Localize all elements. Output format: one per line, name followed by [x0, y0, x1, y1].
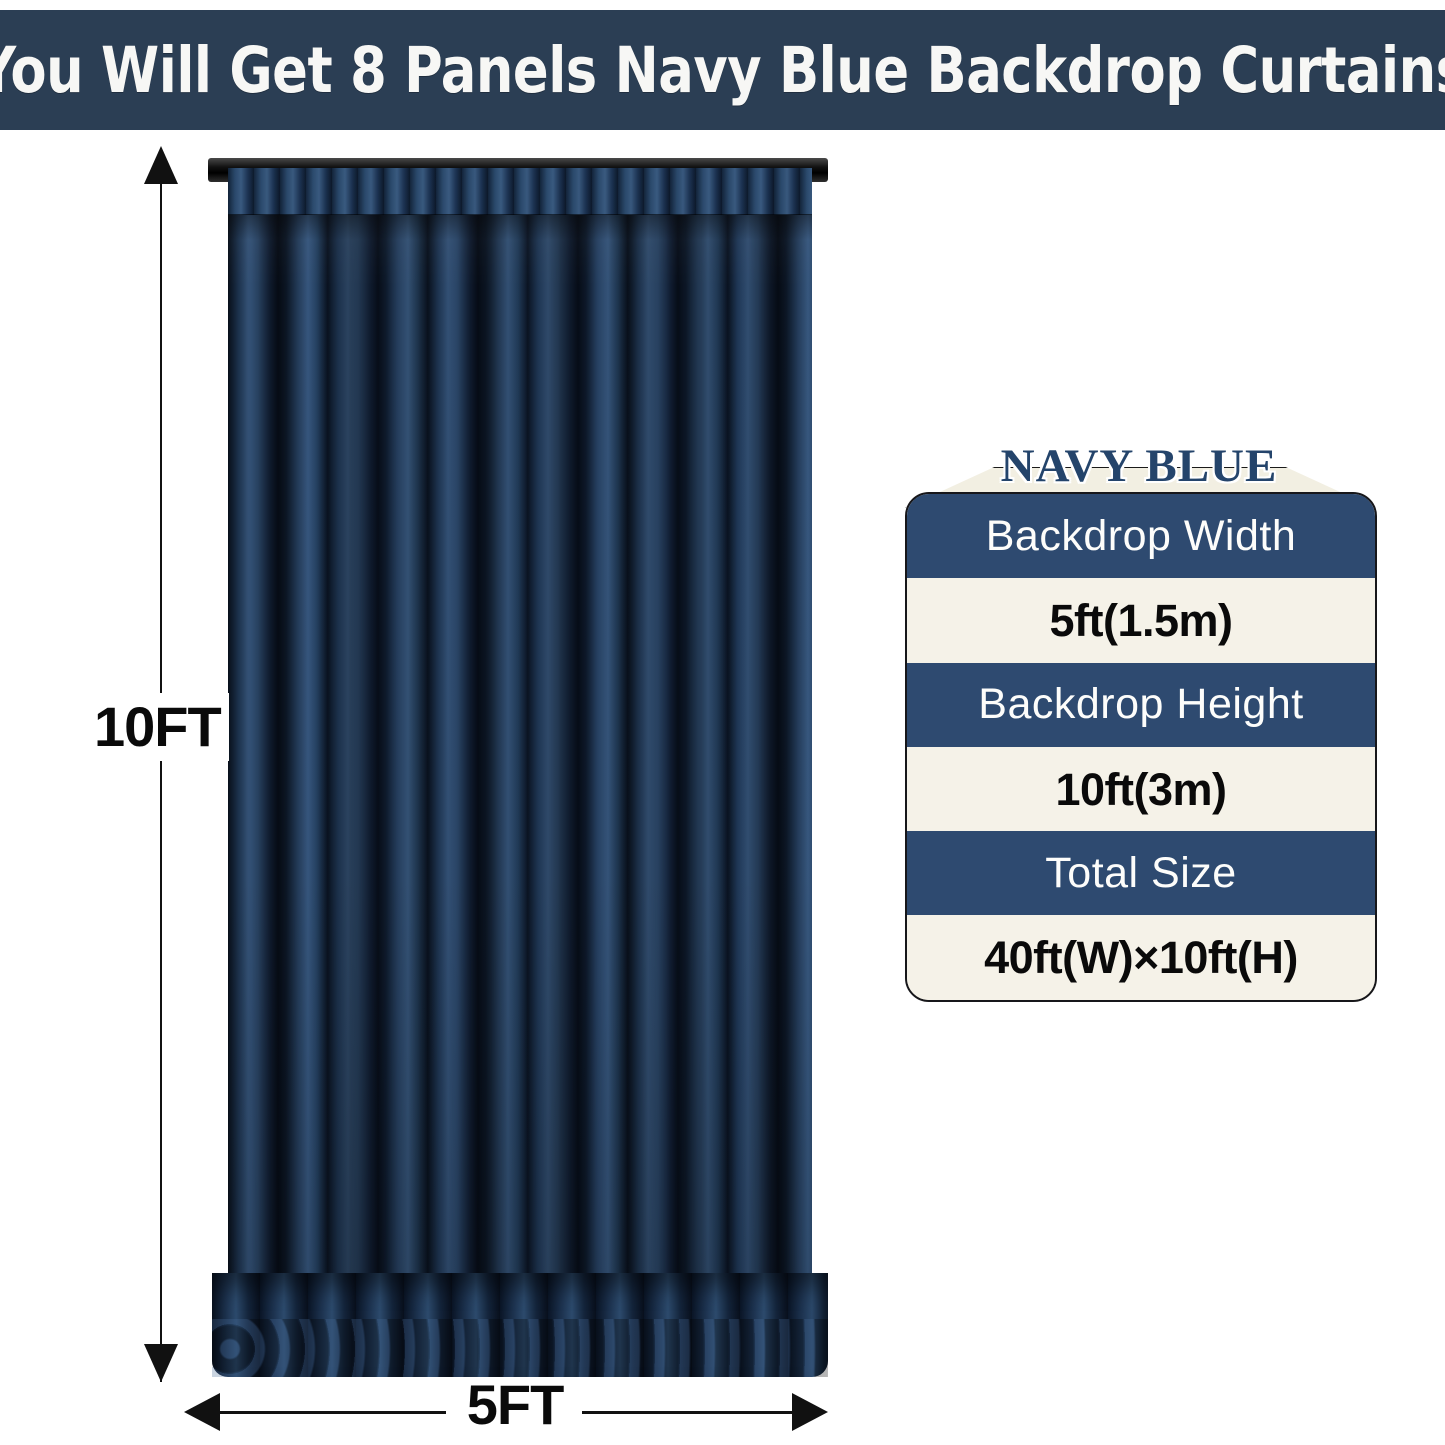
spec-value: 5ft(1.5m) [1049, 598, 1232, 643]
spec-label: Total Size [1045, 852, 1236, 895]
width-dimension-line-left [214, 1411, 446, 1414]
curtain-pocket-shadow [228, 214, 812, 240]
spec-row-label-total: Total Size [907, 831, 1375, 915]
height-dimension-label: 10FT [86, 693, 229, 761]
curtain-panel [228, 168, 812, 1373]
spec-row-value-height: 10ft(3m) [907, 747, 1375, 831]
width-dimension-label: 5FT [452, 1377, 578, 1433]
spec-label: Backdrop Width [986, 515, 1297, 558]
curtain-hem [212, 1273, 828, 1377]
spec-row-value-width: 5ft(1.5m) [907, 578, 1375, 662]
arrow-down-icon [144, 1344, 178, 1382]
spec-value: 40ft(W)×10ft(H) [984, 935, 1298, 980]
curtain-rod-pocket [228, 168, 812, 215]
spec-value: 10ft(3m) [1055, 767, 1226, 812]
spec-card-title: NAVY BLUE [905, 443, 1373, 490]
arrow-right-icon [792, 1393, 828, 1431]
curtain-hem-gathers [212, 1319, 828, 1377]
curtain-folds [228, 168, 812, 1373]
arrow-up-icon [144, 146, 178, 184]
spec-label: Backdrop Height [978, 683, 1303, 726]
spec-table: Backdrop Width 5ft(1.5m) Backdrop Height… [905, 492, 1377, 1002]
spec-row-label-height: Backdrop Height [907, 663, 1375, 747]
arrow-left-icon [184, 1393, 220, 1431]
spec-card: NAVY BLUE Backdrop Width 5ft(1.5m) Backd… [905, 425, 1373, 1005]
page-title: You Will Get 8 Panels Navy Blue Backdrop… [0, 39, 1445, 102]
product-infographic: You Will Get 8 Panels Navy Blue Backdrop… [0, 0, 1445, 1445]
spec-row-value-total: 40ft(W)×10ft(H) [907, 915, 1375, 999]
header-banner: You Will Get 8 Panels Navy Blue Backdrop… [0, 10, 1445, 130]
width-dimension-line-right [582, 1411, 798, 1414]
spec-row-label-width: Backdrop Width [907, 494, 1375, 578]
height-dimension-line [160, 150, 162, 1382]
